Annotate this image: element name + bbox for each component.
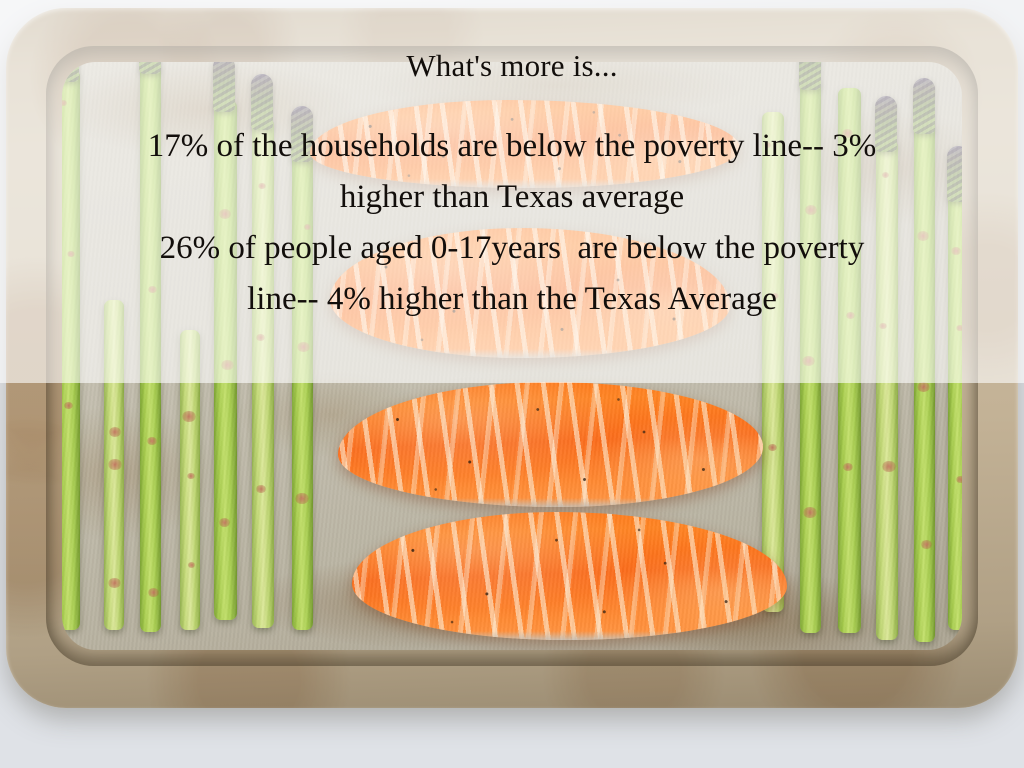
salmon-skin-edge: [338, 498, 763, 507]
asparagus-blemish: [64, 402, 73, 409]
salmon-fat-lines: [352, 512, 787, 640]
asparagus-blemish: [108, 459, 122, 470]
slide-text-block: What's more is... 17% of the households …: [0, 0, 1024, 383]
salmon-flesh: [352, 512, 787, 640]
asparagus-blemish: [803, 507, 817, 518]
salmon-fillet-third: [338, 382, 763, 507]
salmon-skin-edge: [352, 631, 787, 640]
asparagus-blemish: [882, 461, 896, 472]
salmon-fat-lines-2: [338, 382, 763, 507]
body-line-3: 26% of people aged 0-17years are below t…: [27, 223, 997, 274]
asparagus-blemish: [148, 588, 159, 597]
salmon-pepper-specks: [338, 382, 763, 507]
salmon-pepper-specks: [352, 512, 787, 640]
body-line-2: higher than Texas average: [27, 172, 997, 223]
asparagus-blemish: [921, 540, 932, 549]
asparagus-blemish: [768, 444, 777, 451]
asparagus-blemish: [956, 476, 962, 483]
body-text: 17% of the households are below the pove…: [27, 121, 997, 325]
asparagus-blemish: [295, 493, 309, 504]
salmon-fillet-bottom: [352, 512, 787, 640]
asparagus-blemish: [188, 562, 195, 568]
asparagus-blemish: [187, 473, 195, 479]
asparagus-blemish: [219, 518, 230, 527]
asparagus-blemish: [917, 382, 930, 392]
body-line-1: 17% of the households are below the pove…: [27, 121, 997, 172]
salmon-fat-lines-2: [352, 512, 787, 640]
salmon-fat-lines: [338, 382, 763, 507]
body-line-4: line-- 4% higher than the Texas Average: [27, 274, 997, 325]
asparagus-blemish: [843, 463, 853, 471]
slide-canvas: What's more is... 17% of the households …: [0, 0, 1024, 768]
asparagus-blemish: [108, 578, 121, 588]
salmon-highlight: [338, 382, 763, 507]
salmon-flesh: [338, 382, 763, 507]
asparagus-blemish: [182, 411, 196, 422]
headline-text: What's more is...: [406, 50, 617, 83]
asparagus-blemish: [256, 485, 266, 493]
asparagus-blemish: [109, 427, 121, 437]
asparagus-blemish: [147, 437, 157, 445]
salmon-highlight: [352, 512, 787, 640]
